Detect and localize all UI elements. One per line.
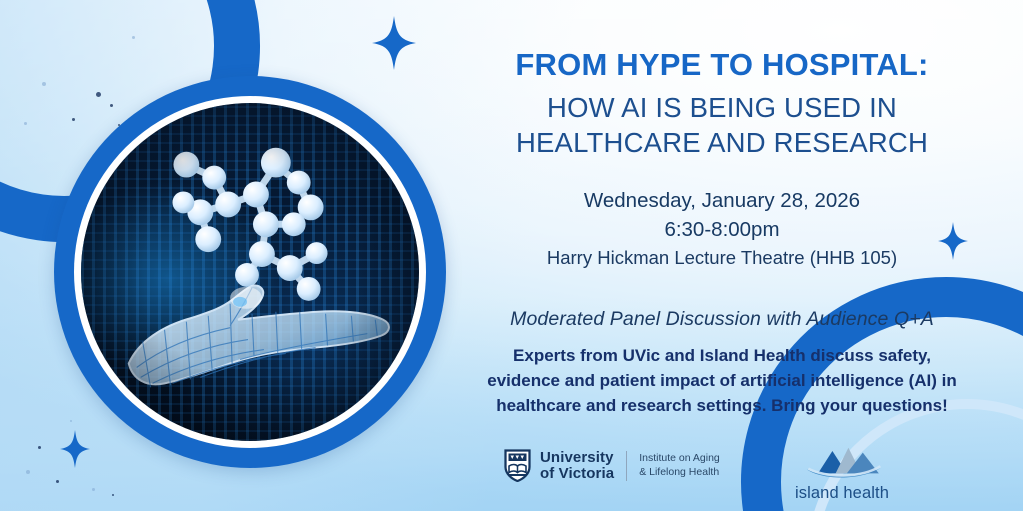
- event-time: 6:30-8:00pm: [452, 215, 992, 244]
- logo-row: University of Victoria Institute on Agin…: [452, 441, 992, 507]
- decor-dot: [38, 446, 41, 449]
- sparkle-top-left-icon: [372, 16, 416, 70]
- uvic-name-line2: of Victoria: [540, 466, 614, 482]
- event-date: Wednesday, January 28, 2026: [452, 186, 992, 215]
- event-description-line: Experts from UVic and Island Health disc…: [458, 343, 986, 368]
- decor-dot: [96, 92, 101, 97]
- event-details: Wednesday, January 28, 2026 6:30-8:00pm …: [452, 186, 992, 272]
- decor-dot: [42, 82, 46, 86]
- event-description-line: evidence and patient impact of artificia…: [458, 368, 986, 393]
- decor-dot: [132, 36, 135, 39]
- poster-text-content: FROM HYPE TO HOSPITAL: HOW AI IS BEING U…: [452, 0, 992, 511]
- uvic-logo: University of Victoria Institute on Agin…: [504, 449, 720, 482]
- uvic-name-line1: University: [540, 450, 614, 466]
- decor-dot: [72, 118, 75, 121]
- decor-dot: [92, 488, 95, 491]
- hand-molecule-icon: [81, 103, 419, 441]
- uvic-shield-icon: [504, 449, 531, 482]
- page-title-line1: FROM HYPE TO HOSPITAL:: [452, 0, 992, 83]
- event-description-line: healthcare and research settings. Bring …: [458, 393, 986, 418]
- page-title-line3: HEALTHCARE AND RESEARCH: [452, 125, 992, 160]
- island-health-name: island health: [772, 484, 912, 503]
- island-health-mountains-icon: [794, 443, 890, 483]
- decor-dot: [70, 420, 72, 422]
- uvic-unit-line2: & Lifelong Health: [639, 466, 720, 479]
- event-poster: FROM HYPE TO HOSPITAL: HOW AI IS BEING U…: [0, 0, 1023, 511]
- hero-image-circle: [54, 76, 446, 468]
- image-vignette: [81, 103, 419, 441]
- uvic-unit-name: Institute on Aging & Lifelong Health: [639, 452, 720, 478]
- uvic-unit-line1: Institute on Aging: [639, 452, 720, 465]
- event-format: Moderated Panel Discussion with Audience…: [452, 308, 992, 331]
- page-title-line2: HOW AI IS BEING USED IN: [452, 90, 992, 125]
- uvic-name: University of Victoria: [540, 450, 614, 482]
- decor-dot: [24, 122, 27, 125]
- island-health-logo: island health: [772, 443, 912, 503]
- event-description: Experts from UVic and Island Health disc…: [452, 343, 992, 418]
- decor-dot: [56, 480, 59, 483]
- logo-divider: [626, 451, 627, 481]
- decor-dot: [26, 470, 30, 474]
- event-location: Harry Hickman Lecture Theatre (HHB 105): [452, 244, 992, 272]
- decor-dot: [112, 494, 114, 496]
